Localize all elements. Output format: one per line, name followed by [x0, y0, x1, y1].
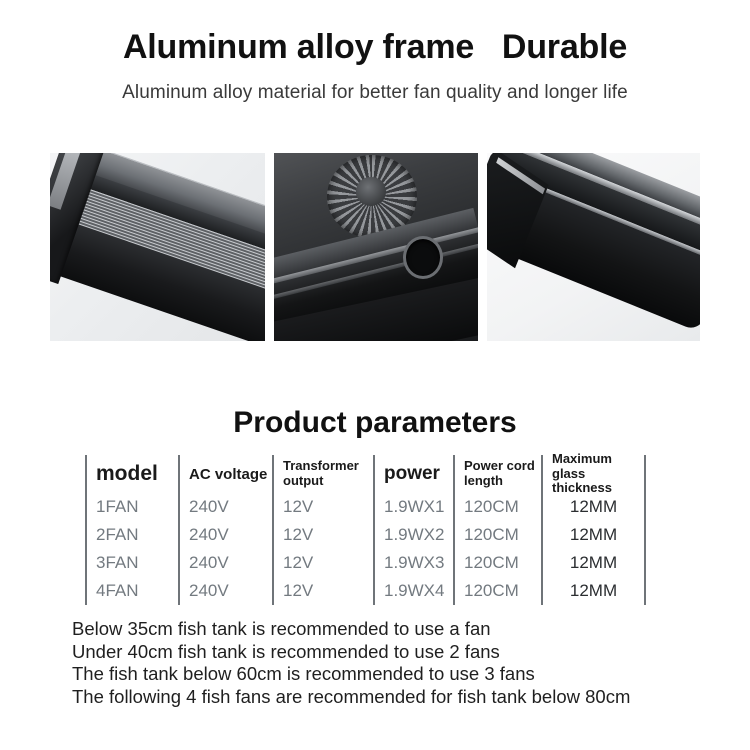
cell-power: 1.9WX2: [373, 521, 453, 549]
cell-cord: 120CM: [453, 549, 541, 577]
cell-glass: 12MM: [541, 521, 646, 549]
cell-transformer: 12V: [272, 549, 373, 577]
table-header-model: model: [85, 455, 178, 493]
cell-power: 1.9WX4: [373, 577, 453, 605]
cell-glass: 12MM: [541, 493, 646, 521]
cell-voltage: 240V: [178, 577, 272, 605]
table-row: 1FAN 240V 12V 1.9WX1 120CM 12MM: [85, 493, 646, 521]
recommendation-notes: Below 35cm fish tank is recommended to u…: [72, 618, 712, 708]
product-parameters-table: model AC voltage Transformer output powe…: [85, 455, 646, 608]
product-photo-gallery: [50, 153, 700, 341]
note-line: The following 4 fish fans are recommende…: [72, 686, 712, 709]
cell-model: 3FAN: [85, 549, 178, 577]
cell-transformer: 12V: [272, 493, 373, 521]
table-header-power-cord-length: Power cord length: [453, 455, 541, 493]
note-line: Below 35cm fish tank is recommended to u…: [72, 618, 712, 641]
cell-power: 1.9WX3: [373, 549, 453, 577]
header-label-line1: power: [384, 463, 440, 485]
cell-cord: 120CM: [453, 493, 541, 521]
note-line: Under 40cm fish tank is recommended to u…: [72, 641, 712, 664]
header-label-line1: Maximum glass: [552, 452, 644, 481]
table-header-transformer-output: Transformer output: [272, 455, 373, 493]
cell-power: 1.9WX1: [373, 493, 453, 521]
specs-section-title: Product parameters: [0, 406, 750, 440]
product-photo-fan-housing-grille-closeup: [274, 153, 478, 341]
header-label-line1: Transformer: [283, 459, 359, 474]
header-label-line2: length: [464, 474, 503, 489]
cell-voltage: 240V: [178, 521, 272, 549]
table-header-ac-voltage: AC voltage: [178, 455, 272, 493]
cell-cord: 120CM: [453, 521, 541, 549]
table-row: 2FAN 240V 12V 1.9WX2 120CM 12MM: [85, 521, 646, 549]
page-headline: Aluminum alloy frame Durable: [0, 28, 750, 67]
cell-model: 2FAN: [85, 521, 178, 549]
cell-voltage: 240V: [178, 493, 272, 521]
product-photo-aluminum-extrusion-finned-profile: [50, 153, 265, 341]
table-row: 3FAN 240V 12V 1.9WX3 120CM 12MM: [85, 549, 646, 577]
cell-glass: 12MM: [541, 549, 646, 577]
header-label-line2: output: [283, 474, 323, 489]
cell-transformer: 12V: [272, 521, 373, 549]
page-subheadline: Aluminum alloy material for better fan q…: [0, 82, 750, 104]
table-row: 4FAN 240V 12V 1.9WX4 120CM 12MM: [85, 577, 646, 605]
product-photo-aluminum-profile-grooved-angle: [487, 153, 700, 341]
cell-glass: 12MM: [541, 577, 646, 605]
table-header-maximum-glass-thickness: Maximum glass thickness: [541, 455, 646, 493]
fan-hub: [356, 177, 387, 205]
note-line: The fish tank below 60cm is recommended …: [72, 663, 712, 686]
header-label-line1: Power cord: [464, 459, 535, 474]
table-header-row: model AC voltage Transformer output powe…: [85, 455, 646, 493]
cell-model: 1FAN: [85, 493, 178, 521]
cell-model: 4FAN: [85, 577, 178, 605]
cell-transformer: 12V: [272, 577, 373, 605]
table-header-power: power: [373, 455, 453, 493]
header-label-line1: model: [96, 462, 158, 486]
cell-voltage: 240V: [178, 549, 272, 577]
cell-cord: 120CM: [453, 577, 541, 605]
header-label-line1: AC voltage: [189, 466, 267, 483]
